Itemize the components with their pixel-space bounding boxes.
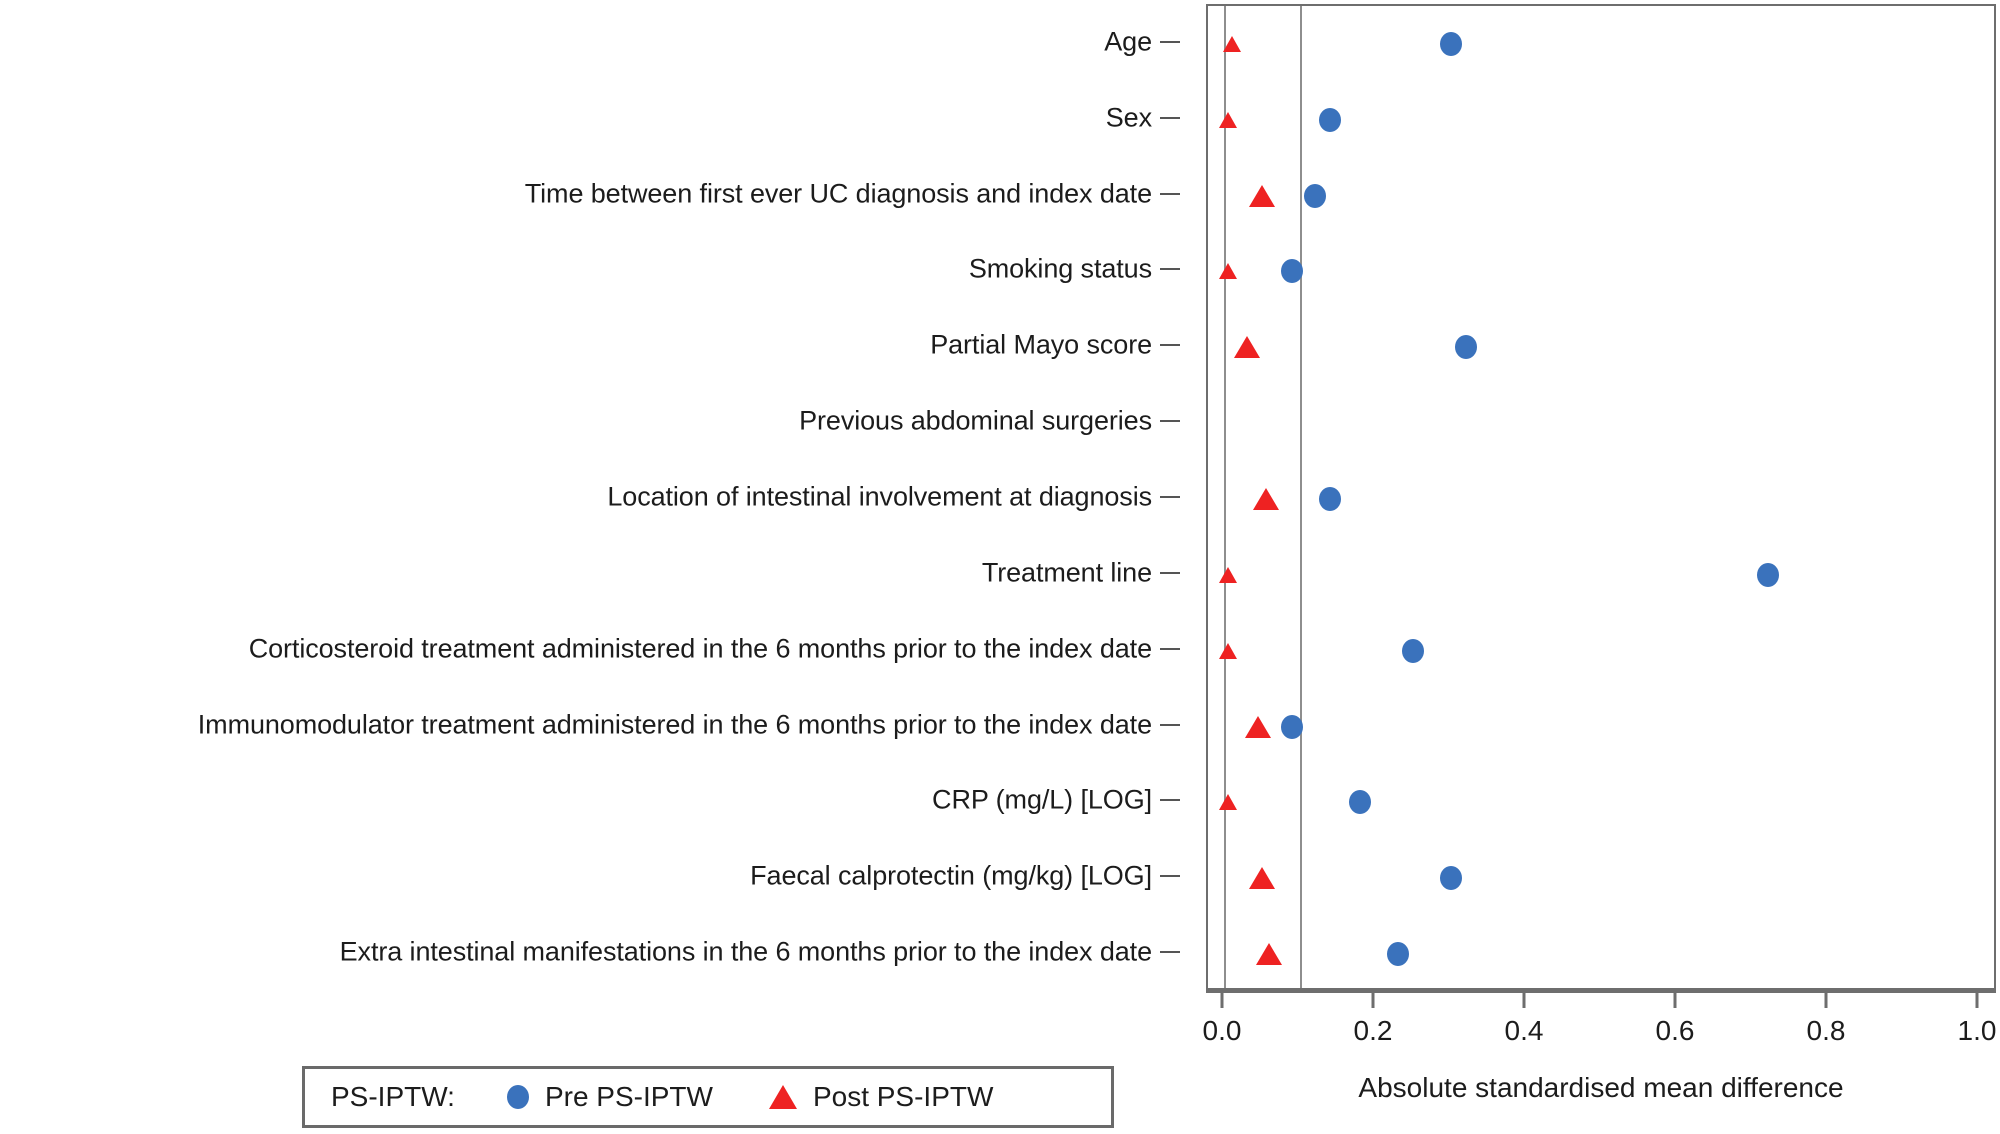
data-point-pre: [1304, 184, 1326, 208]
data-point-pre: [1281, 715, 1303, 739]
x-axis-tick: [1372, 993, 1375, 1008]
category-label: Smoking status: [969, 256, 1152, 283]
data-point-post: [1219, 263, 1237, 279]
category-label: Treatment line: [982, 559, 1152, 586]
data-point-pre: [1281, 259, 1303, 283]
legend-entry-pre: Pre PS-IPTW: [507, 1081, 713, 1113]
legend-entry-label: Pre PS-IPTW: [545, 1081, 713, 1113]
category-label: Age: [1104, 28, 1152, 55]
y-axis-tick: [1160, 117, 1180, 119]
category-label: Extra intestinal manifestations in the 6…: [340, 939, 1152, 966]
data-point-post: [1219, 567, 1237, 583]
data-point-pre: [1440, 32, 1462, 56]
data-point-post: [1253, 488, 1279, 510]
data-point-pre: [1402, 639, 1424, 663]
data-point-post: [1219, 112, 1237, 128]
triangle-marker-icon: [769, 1085, 797, 1109]
y-axis-tick: [1160, 496, 1180, 498]
data-point-post: [1249, 185, 1275, 207]
category-label: Location of intestinal involvement at di…: [607, 484, 1152, 511]
category-label: Immunomodulator treatment administered i…: [198, 711, 1152, 738]
y-axis-tick: [1160, 572, 1180, 574]
y-axis-tick: [1160, 193, 1180, 195]
category-label: Faecal calprotectin (mg/kg) [LOG]: [750, 863, 1152, 890]
y-axis-tick: [1160, 799, 1180, 801]
x-axis-tick-label: 0.2: [1354, 1015, 1393, 1047]
x-axis-tick: [1674, 993, 1677, 1008]
data-point-pre: [1319, 487, 1341, 511]
data-point-pre: [1349, 790, 1371, 814]
x-axis-tick-label: 0.4: [1505, 1015, 1544, 1047]
data-point-post: [1245, 716, 1271, 738]
x-axis-line: [1206, 990, 1996, 993]
category-label: Partial Mayo score: [930, 332, 1152, 359]
category-label-column: AgeSexTime between first ever UC diagnos…: [0, 0, 1180, 990]
y-axis-tick: [1160, 648, 1180, 650]
plot-panel: [1206, 4, 1996, 990]
data-point-pre: [1387, 942, 1409, 966]
legend-entries: Pre PS-IPTWPost PS-IPTW: [507, 1081, 1049, 1113]
y-axis-tick: [1160, 724, 1180, 726]
data-point-post: [1256, 943, 1282, 965]
category-label: Sex: [1106, 104, 1152, 131]
y-axis-tick: [1160, 951, 1180, 953]
x-axis-tick: [1221, 993, 1224, 1008]
x-axis-tick: [1825, 993, 1828, 1008]
legend-title: PS-IPTW:: [331, 1081, 455, 1113]
y-axis-tick: [1160, 41, 1180, 43]
zero-reference-line: [1224, 6, 1226, 988]
y-axis-tick: [1160, 268, 1180, 270]
x-axis-tick-label: 0.0: [1203, 1015, 1242, 1047]
threshold-reference-line: [1300, 6, 1302, 988]
data-point-pre: [1455, 335, 1477, 359]
data-point-pre: [1757, 563, 1779, 587]
data-point-post: [1219, 794, 1237, 810]
y-axis-tick: [1160, 420, 1180, 422]
love-plot-figure: AgeSexTime between first ever UC diagnos…: [0, 0, 2000, 1134]
data-point-pre: [1440, 866, 1462, 890]
data-point-post: [1249, 867, 1275, 889]
category-label: Previous abdominal surgeries: [799, 408, 1152, 435]
legend-entry-post: Post PS-IPTW: [769, 1081, 993, 1113]
y-axis-tick: [1160, 875, 1180, 877]
legend-entry-label: Post PS-IPTW: [813, 1081, 993, 1113]
data-point-post: [1219, 643, 1237, 659]
circle-marker-icon: [507, 1085, 529, 1109]
x-axis-tick-label: 0.6: [1656, 1015, 1695, 1047]
plot-right-border: [1994, 4, 1996, 990]
data-point-post: [1234, 336, 1260, 358]
x-axis-tick: [1976, 993, 1979, 1008]
category-label: Corticosteroid treatment administered in…: [249, 635, 1152, 662]
data-point-post: [1223, 36, 1241, 52]
x-axis-tick-label: 0.8: [1807, 1015, 1846, 1047]
data-point-pre: [1319, 108, 1341, 132]
x-axis-tick-label: 1.0: [1958, 1015, 1997, 1047]
category-label: Time between first ever UC diagnosis and…: [525, 180, 1152, 207]
x-axis-tick: [1523, 993, 1526, 1008]
y-axis-tick: [1160, 344, 1180, 346]
category-label: CRP (mg/L) [LOG]: [932, 787, 1152, 814]
x-axis-title: Absolute standardised mean difference: [1206, 1072, 1996, 1104]
legend-box: PS-IPTW: Pre PS-IPTWPost PS-IPTW: [302, 1066, 1114, 1128]
